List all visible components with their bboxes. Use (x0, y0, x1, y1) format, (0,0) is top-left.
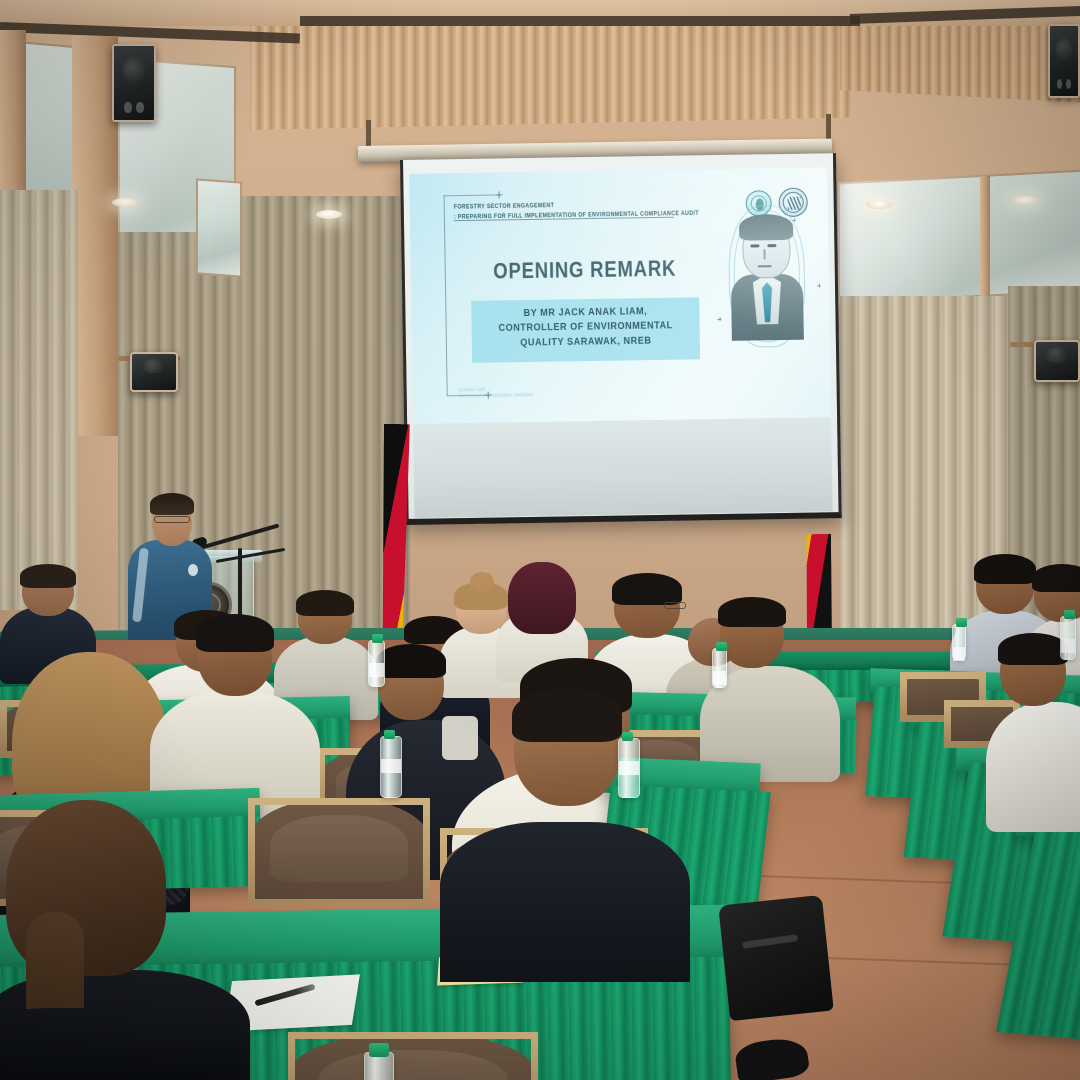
attendee-torso (440, 822, 690, 982)
attendee-hair (718, 597, 786, 627)
slide-header-line-1: FORESTRY SECTOR ENGAGEMENT (454, 198, 704, 212)
wall-speaker-icon (112, 44, 156, 122)
slide-header: FORESTRY SECTOR ENGAGEMENT : PREPARING F… (454, 198, 704, 222)
bottle-label (619, 761, 639, 775)
water-bottle (364, 1052, 394, 1080)
attendee-hair-bun (470, 572, 494, 592)
attendee-hair (508, 562, 576, 634)
presenter-glasses-icon (154, 516, 190, 523)
attendee-hair (512, 688, 622, 742)
portrait-nose (763, 249, 765, 259)
slide-accent-dot-top (792, 218, 796, 222)
slide-byline-box: BY MR JACK ANAK LIAM, CONTROLLER OF ENVI… (471, 297, 700, 363)
attendee-glasses-icon (664, 602, 686, 609)
slide-crosshair-bottom (485, 392, 492, 399)
ceiling-downlight-icon (112, 198, 138, 207)
banquet-chair-foreground (248, 798, 430, 906)
bottle-label (381, 759, 401, 773)
bottle-label (369, 663, 384, 677)
wall-speaker-icon-lower-left (130, 352, 178, 392)
attendee-hair (612, 573, 682, 605)
slide-accent-dot-left (718, 317, 722, 321)
portrait-ring-outer (728, 205, 806, 348)
bottle-cap (369, 1043, 389, 1057)
speaker-tweeter-icon (1057, 79, 1062, 89)
presenter-hair (150, 493, 194, 515)
water-bottle (380, 736, 402, 798)
water-bottle (368, 640, 385, 687)
bottle-label (953, 647, 965, 661)
bottle-cap (716, 642, 727, 651)
slide-accent-dot-right (817, 283, 821, 287)
glass-sheen-right (838, 170, 1080, 305)
portrait-hair (739, 214, 793, 241)
attendee-torso (986, 702, 1080, 832)
portrait-body (731, 274, 804, 341)
speaker-portrait (726, 212, 808, 341)
bottle-cap (372, 634, 383, 643)
portrait-ring-inner (733, 210, 801, 343)
water-bottle (1060, 616, 1076, 660)
bottle-label (713, 671, 726, 685)
attendee-hair (196, 614, 274, 652)
slide-footer-line-1: 22 APRIL 2025 (459, 386, 533, 393)
screen-blank-area (413, 417, 832, 518)
attendee-burgundy-hair (496, 562, 588, 670)
bottle-cap (384, 730, 395, 739)
slide-frame-line-top (444, 194, 498, 196)
portrait-eye-right (767, 244, 776, 247)
conference-room-photo: FORESTRY SECTOR ENGAGEMENT : PREPARING F… (0, 0, 1080, 1080)
slide-header-line-2: : PREPARING FOR FULL IMPLEMENTATION OF E… (454, 208, 704, 222)
attendee-dark-suit-front (440, 672, 690, 922)
portrait-head (742, 220, 791, 279)
slide-byline-line-2: CONTROLLER OF ENVIRONMENTAL (498, 320, 672, 334)
speaker-cone-icon (1045, 347, 1069, 362)
presenter-badge (188, 564, 198, 576)
projector-screen: FORESTRY SECTOR ENGAGEMENT : PREPARING F… (400, 153, 842, 525)
portrait-shirt (753, 274, 782, 324)
slide-byline-line-1: BY MR JACK ANAK LIAM, (523, 305, 647, 318)
backpack (718, 895, 834, 1021)
ceiling-downlight-icon (866, 200, 892, 209)
speaker-tweeter-icon (124, 102, 131, 112)
ceiling-beam-center (300, 16, 860, 26)
attendee-hair (1032, 564, 1080, 592)
speaker-cone-icon (123, 56, 145, 86)
speaker-tweeter-icon (136, 102, 143, 112)
portrait-mouth (758, 265, 772, 267)
forestry-department-logo (778, 188, 807, 217)
attendee-hair (296, 590, 354, 616)
attendee-shoulder-foreground (0, 1008, 240, 1080)
slide-title: OPENING REMARK (455, 255, 715, 285)
ceiling-downlight-icon (316, 210, 342, 219)
portrait-eye-left (750, 244, 759, 247)
speaker-cone-icon (142, 359, 167, 373)
portrait-tie (762, 282, 773, 322)
attendee-hair (998, 633, 1068, 665)
speaker-cone-icon (1056, 36, 1072, 64)
glass-mullion-right (980, 176, 990, 297)
flag-stripes-left (380, 424, 410, 642)
slide-footer-line-2: IMPERIAL HOTEL KUCHING, SARAWAK (459, 392, 533, 399)
bottle-cap (1064, 610, 1075, 619)
slide-frame-line-bottom (447, 395, 489, 397)
bottle-label (1061, 639, 1075, 653)
curtain-far-left (0, 190, 78, 610)
slide-byline-line-3: QUALITY SARAWAK, NREB (520, 335, 651, 348)
nreb-logo (746, 190, 772, 216)
attendee-hair (20, 564, 76, 588)
attendee-polo-shirt (150, 618, 320, 808)
slide-frame-line-left (444, 195, 448, 395)
glass-panel-small-left (196, 178, 242, 277)
slide-crosshair-top (496, 191, 503, 198)
attendee-hair (376, 644, 446, 678)
speaker-tweeter-icon (1066, 79, 1071, 89)
bottle-cap (622, 732, 633, 741)
water-bottle (952, 624, 966, 660)
chair-pad (270, 815, 408, 882)
slide-header-rule (454, 217, 674, 221)
water-bottle (618, 738, 640, 798)
wall-speaker-icon-right (1048, 24, 1080, 98)
presentation-slide: FORESTRY SECTOR ENGAGEMENT : PREPARING F… (409, 167, 831, 424)
slide-footer: 22 APRIL 2025 IMPERIAL HOTEL KUCHING, SA… (459, 386, 533, 399)
ceiling-downlight-icon (1012, 196, 1038, 205)
water-bottle (712, 648, 727, 688)
sarawak-flag-left (380, 424, 410, 642)
bottle-cap (956, 618, 967, 627)
attendee-white-shirt-right (986, 636, 1080, 826)
wall-speaker-icon-lower-right (1034, 340, 1080, 382)
banquet-chair-bottom (288, 1032, 538, 1080)
